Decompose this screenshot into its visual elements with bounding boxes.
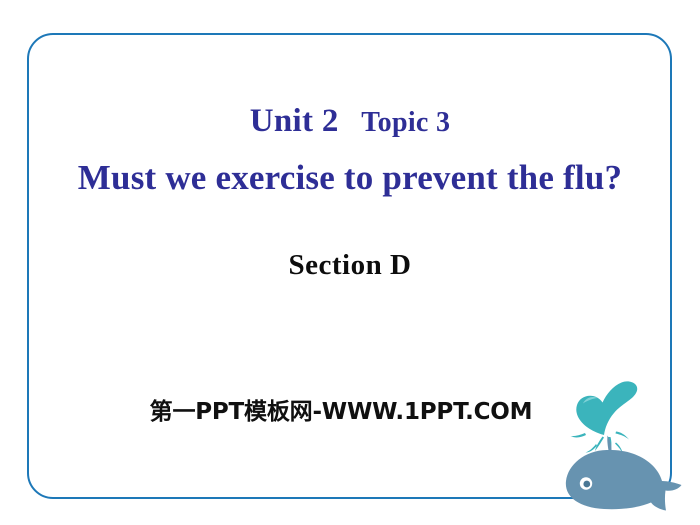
unit-label: Unit 2 — [250, 103, 339, 139]
page-title: Must we exercise to prevent the flu? — [0, 158, 700, 198]
section-label: Section D — [0, 249, 700, 282]
whale-icon — [552, 378, 692, 518]
unit-topic-line: Unit 2 Topic 3 — [0, 103, 700, 140]
whale-body — [566, 436, 682, 511]
heart-spout-icon — [571, 381, 638, 454]
slide-canvas: Unit 2 Topic 3 Must we exercise to preve… — [0, 0, 700, 525]
topic-label: Topic 3 — [361, 107, 450, 138]
